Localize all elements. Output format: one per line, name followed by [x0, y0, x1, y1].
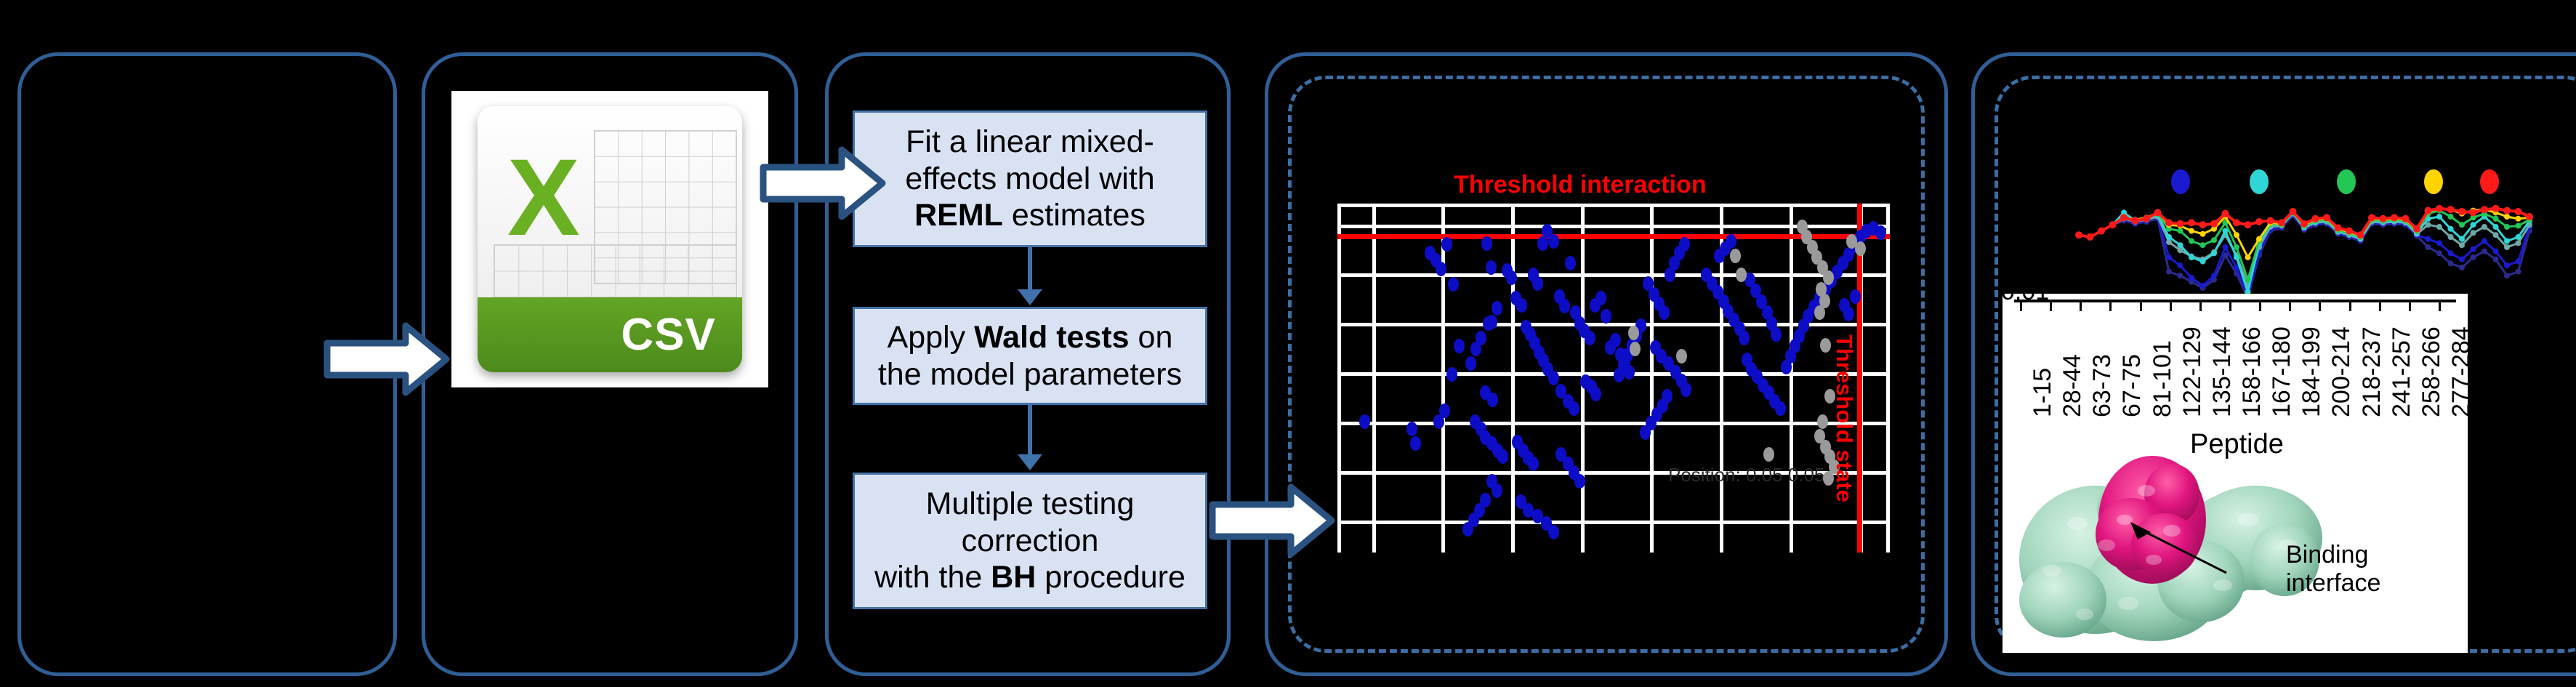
line-point: [2459, 265, 2465, 270]
excel-x-glyph: X: [491, 117, 597, 276]
line-point: [2166, 269, 2172, 275]
line-point: [2245, 277, 2251, 283]
line-point: [2200, 231, 2206, 237]
x-axis-tick-label: 184-199: [2298, 326, 2326, 417]
arrow-analysis-to-results: [1207, 480, 1337, 561]
line-point: [2245, 254, 2251, 260]
binding-interface-annotation: Binding interface: [2286, 541, 2380, 598]
x-axis-tick-label: 122-129: [2178, 326, 2207, 417]
line-point: [2459, 236, 2465, 242]
x-axis-tick: [2109, 300, 2112, 311]
line-point: [2109, 221, 2117, 228]
line-point: [2166, 234, 2172, 240]
line-point: [2166, 239, 2172, 245]
process-box-bh: Multiple testingcorrectionwith the BH pr…: [853, 473, 1207, 609]
line-point: [2481, 206, 2488, 213]
process-box-wald-text: Apply Wald tests onthe model parameters: [878, 319, 1182, 393]
line-point: [2436, 205, 2443, 212]
line-point: [2211, 237, 2217, 243]
line-point: [2380, 215, 2387, 222]
x-axis-tick-label: 81-101: [2149, 340, 2177, 417]
line-point: [2436, 240, 2442, 246]
line-point: [2323, 214, 2330, 221]
x-axis-tick-label: 241-257: [2388, 326, 2416, 417]
line-point: [2200, 242, 2206, 248]
line-point: [2178, 242, 2183, 248]
line-point: [2493, 232, 2499, 238]
flowchart-canvas: X CSV Fit a linear mixed-effects model w…: [0, 0, 2576, 687]
csv-label: CSV: [478, 297, 743, 371]
scatter-plot: Threshold interaction Position: 0.05 0.: [1308, 95, 1912, 625]
line-point: [2165, 219, 2173, 226]
line-point: [2256, 236, 2262, 242]
x-axis-tick-label: 28-44: [2058, 354, 2087, 417]
line-point: [2448, 234, 2454, 240]
scatter-plot-area: Position: 0.05 0.05: [1337, 204, 1890, 553]
line-point: [2233, 219, 2240, 226]
line-point: [2189, 238, 2194, 244]
line-point: [2493, 216, 2499, 222]
line-point: [2482, 238, 2487, 244]
line-point: [2200, 283, 2206, 289]
line-point: [2312, 215, 2319, 222]
x-axis-tick-label: 158-166: [2238, 326, 2266, 417]
line-point: [2426, 236, 2431, 242]
line-point: [2426, 244, 2431, 250]
line-point: [2482, 224, 2487, 230]
line-point: [2245, 221, 2252, 228]
arrow-data-to-analysis: [757, 142, 888, 224]
line-point: [2413, 225, 2420, 233]
line-point: [2346, 228, 2353, 235]
line-point: [2482, 249, 2487, 254]
scatter-title: Threshold interaction: [1454, 171, 1707, 199]
x-axis-tick: [2379, 300, 2381, 311]
line-point: [2200, 259, 2206, 265]
line-point: [2178, 228, 2183, 234]
line-point: [2301, 220, 2308, 228]
line-point: [2516, 216, 2521, 222]
threshold-state-label: Threshold state: [1831, 334, 1857, 502]
process-box-wald: Apply Wald tests onthe model parameters: [853, 307, 1207, 405]
line-point: [2436, 224, 2442, 230]
line-point: [2448, 250, 2454, 256]
line-point: [2177, 220, 2184, 228]
line-point: [2470, 209, 2477, 216]
line-point: [2166, 254, 2172, 260]
line-point: [2515, 208, 2522, 215]
x-axis-tick: [2319, 300, 2321, 311]
line-point: [2526, 213, 2533, 220]
line-point: [2178, 273, 2183, 278]
line-point: [2391, 214, 2398, 221]
connector-reml-wald-head: [1018, 289, 1042, 305]
line-point: [2471, 246, 2476, 252]
line-point: [2471, 230, 2476, 236]
line-point: [2516, 223, 2521, 229]
line-point: [2493, 249, 2499, 254]
threshold-state-line: [1857, 204, 1862, 553]
line-point: [2199, 221, 2207, 228]
peptide-axis-and-structure-card: 0.01 1-1528-4463-7367-7581-101122-129135…: [2003, 294, 2468, 653]
line-point: [2087, 233, 2094, 241]
line-point: [2234, 232, 2239, 238]
line-point: [2188, 219, 2195, 226]
line-point: [2458, 208, 2466, 215]
x-axis-tick-label: 63-73: [2088, 354, 2117, 417]
line-point: [2234, 244, 2239, 250]
line-point: [2425, 207, 2432, 214]
line-point: [2178, 262, 2183, 268]
line-point: [2448, 260, 2454, 266]
line-point: [2189, 275, 2194, 281]
line-point: [2210, 220, 2218, 228]
line-point: [2211, 250, 2217, 256]
line-point: [2471, 254, 2476, 260]
line-point: [2267, 217, 2274, 225]
arrow-into-input: [321, 318, 452, 400]
line-point: [2120, 214, 2128, 221]
line-point: [2459, 222, 2465, 228]
x-axis-tick: [2080, 300, 2082, 311]
line-point: [2189, 254, 2194, 260]
line-point: [2471, 222, 2476, 228]
x-axis-tick-label: 1-15: [2029, 368, 2057, 417]
x-axis-tick: [2170, 300, 2172, 311]
x-axis-tick: [2259, 300, 2261, 311]
binding-interface-line1: Binding: [2286, 541, 2380, 569]
process-box-reml: Fit a linear mixed-effects model withREM…: [853, 111, 1207, 247]
x-axis-tick: [2229, 300, 2231, 311]
line-point: [2504, 238, 2510, 244]
line-point: [2493, 224, 2499, 230]
line-point: [2516, 269, 2521, 275]
line-chart-svg: [2028, 142, 2576, 298]
process-box-bh-text: Multiple testingcorrectionwith the BH pr…: [874, 486, 1186, 596]
line-point: [2503, 207, 2511, 214]
line-point: [2436, 250, 2442, 256]
line-point: [2222, 210, 2229, 217]
x-axis-tick-label: 135-144: [2208, 326, 2237, 417]
connector-wald-bh-head: [1018, 454, 1042, 470]
y-axis-tick-0-01: 0.01: [2003, 294, 2049, 306]
line-point: [2211, 273, 2217, 278]
line-point: [2357, 231, 2364, 238]
scatter-faint-note: Position: 0.05 0.05: [1668, 464, 1824, 486]
line-point: [2493, 257, 2499, 262]
line-point: [2402, 215, 2410, 222]
x-axis-tick: [2439, 300, 2441, 311]
line-point: [2223, 244, 2229, 250]
peptide-line-chart: [2028, 142, 2576, 298]
line-point: [2516, 240, 2521, 246]
line-point: [2075, 231, 2082, 238]
line-point: [2504, 224, 2510, 230]
line-point: [2504, 244, 2510, 250]
line-point: [2335, 224, 2342, 231]
line-point: [2492, 205, 2500, 212]
line-point: [2154, 209, 2162, 216]
line-point: [2143, 215, 2150, 222]
line-point: [2290, 208, 2297, 215]
binding-interface-line2: interface: [2286, 569, 2380, 598]
connector-reml-wald: [1028, 247, 1032, 292]
line-point: [2516, 234, 2521, 240]
x-axis-tick: [2140, 300, 2142, 311]
x-axis-tick-label: 200-214: [2327, 326, 2356, 417]
x-axis-tick-label: 277-284: [2447, 326, 2468, 417]
connector-wald-bh: [1028, 405, 1032, 457]
line-point: [2278, 219, 2285, 226]
line-point: [2436, 214, 2442, 220]
x-axis-tick-label: 218-237: [2358, 326, 2386, 417]
line-point: [2448, 226, 2454, 232]
x-axis-tick: [2050, 300, 2052, 311]
line-point: [2504, 273, 2510, 278]
x-axis-tick-label: 167-180: [2268, 326, 2296, 417]
x-axis-tick: [2020, 300, 2022, 311]
line-point: [2459, 242, 2465, 248]
x-axis-tick: [2199, 300, 2202, 311]
line-point: [2189, 228, 2194, 234]
x-axis-tick: [2349, 300, 2351, 311]
line-point: [2098, 228, 2105, 235]
line-point: [2447, 206, 2455, 213]
line-point: [2516, 259, 2521, 265]
line-point: [2504, 262, 2510, 268]
x-axis-tick-label: 67-75: [2118, 354, 2146, 417]
csv-file-icon: X CSV: [452, 92, 768, 387]
line-point: [2132, 217, 2139, 225]
process-box-reml-text: Fit a linear mixed-effects model withREM…: [905, 124, 1154, 234]
x-axis-tick: [2289, 300, 2291, 311]
line-point: [2504, 214, 2510, 220]
line-point: [2459, 257, 2465, 262]
line-point: [2255, 218, 2263, 225]
x-axis-tick-label: 258-266: [2418, 326, 2446, 417]
x-axis-tick: [2409, 300, 2411, 311]
line-point: [2448, 214, 2454, 220]
line-point: [2368, 214, 2375, 221]
